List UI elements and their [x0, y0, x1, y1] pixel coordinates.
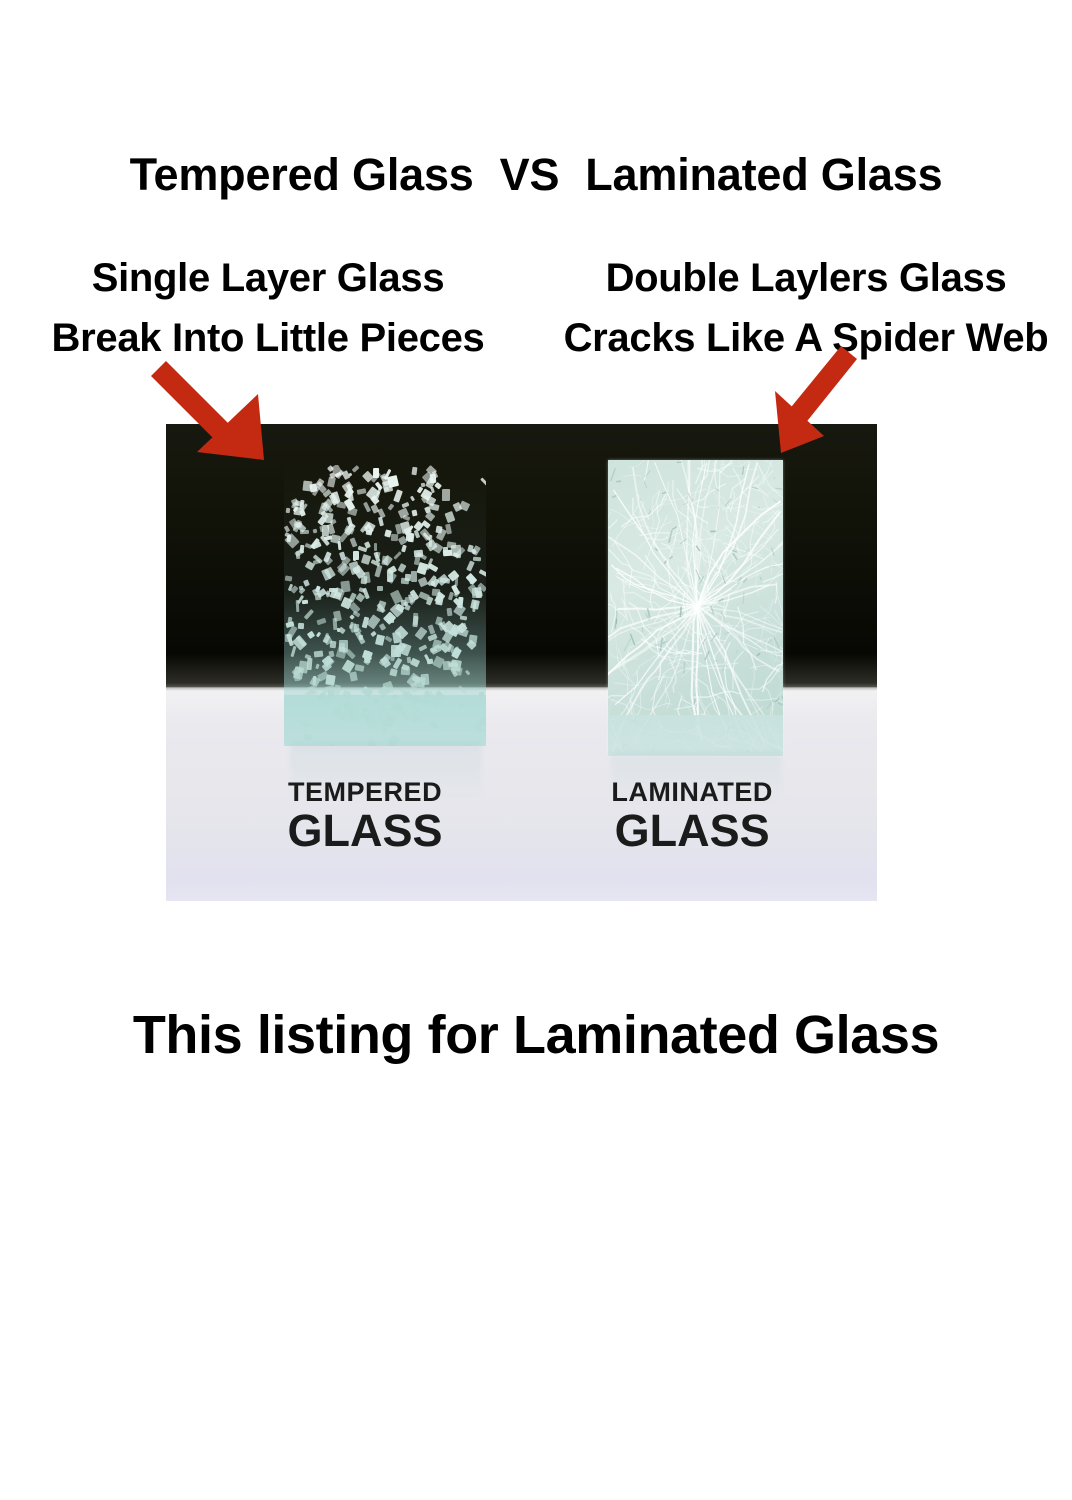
laminated-descriptor-line-1: Double Laylers Glass — [540, 248, 1072, 308]
tempered-glass-slab — [284, 465, 486, 746]
photo-caption-tempered-top: TEMPERED — [202, 777, 529, 807]
headline-laminated-label: Laminated Glass — [585, 152, 942, 197]
tempered-slab-base — [284, 695, 486, 746]
comparison-photo: TEMPERED GLASS LAMINATED GLASS — [166, 424, 877, 901]
laminated-descriptor-line-2: Cracks Like A Spider Web — [540, 308, 1072, 368]
tempered-descriptor: Single Layer Glass Break Into Little Pie… — [2, 248, 534, 368]
photo-caption-laminated: LAMINATED GLASS — [529, 777, 856, 854]
photo-caption-tempered: TEMPERED GLASS — [202, 777, 529, 854]
tempered-descriptor-line-1: Single Layer Glass — [2, 248, 534, 308]
descriptor-row: Single Layer Glass Break Into Little Pie… — [0, 248, 1072, 368]
listing-note: This listing for Laminated Glass — [0, 1004, 1072, 1066]
photo-caption-tempered-bottom: GLASS — [202, 807, 529, 854]
headline-vs-label: VS — [500, 152, 560, 197]
laminated-glass-slab — [608, 460, 783, 756]
laminated-spider-web-cracks — [608, 460, 783, 751]
photo-caption-laminated-top: LAMINATED — [529, 777, 856, 807]
laminated-descriptor: Double Laylers Glass Cracks Like A Spide… — [540, 248, 1072, 368]
tempered-descriptor-line-2: Break Into Little Pieces — [2, 308, 534, 368]
comparison-headline: Tempered GlassVSLaminated Glass — [0, 152, 1072, 197]
photo-caption-laminated-bottom: GLASS — [529, 807, 856, 854]
headline-tempered-label: Tempered Glass — [130, 152, 474, 197]
